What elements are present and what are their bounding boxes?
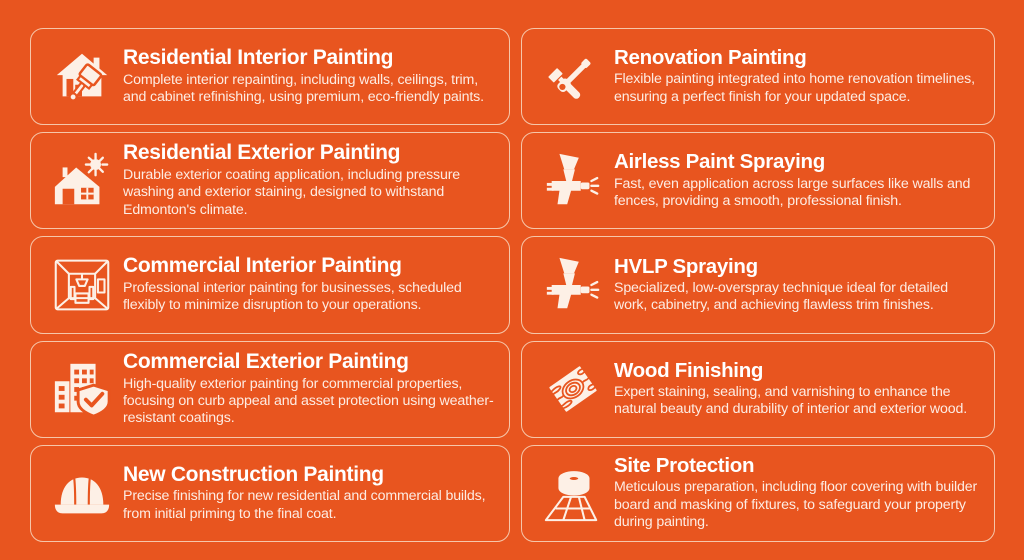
service-description: Durable exterior coating application, in… xyxy=(123,167,497,219)
service-card-airless-paint-spraying[interactable]: Airless Paint Spraying Fast, even applic… xyxy=(521,132,995,229)
service-card-commercial-interior-painting[interactable]: Commercial Interior Painting Professiona… xyxy=(30,236,510,333)
service-card-hvlp-spraying[interactable]: HVLP Spraying Specialized, low-overspray… xyxy=(521,236,995,333)
service-description: Flexible painting integrated into home r… xyxy=(614,71,982,106)
house-sun-icon xyxy=(43,142,121,220)
hard-hat-icon xyxy=(43,454,121,532)
service-title: HVLP Spraying xyxy=(614,256,982,278)
wood-plank-icon xyxy=(534,350,612,428)
service-card-body: Commercial Exterior Painting High-qualit… xyxy=(121,351,499,428)
service-card-body: Airless Paint Spraying Fast, even applic… xyxy=(612,151,984,210)
services-grid: Residential Interior Painting Complete i… xyxy=(0,0,1024,560)
service-title: Airless Paint Spraying xyxy=(614,151,982,173)
spray-gun-icon xyxy=(534,142,612,220)
service-card-renovation-painting[interactable]: Renovation Painting Flexible painting in… xyxy=(521,28,995,125)
service-description: Complete interior repainting, including … xyxy=(123,72,497,107)
service-description: Expert staining, sealing, and varnishing… xyxy=(614,384,982,419)
service-card-site-protection[interactable]: Site Protection Meticulous preparation, … xyxy=(521,445,995,542)
service-description: Fast, even application across large surf… xyxy=(614,176,982,211)
house-paintbrush-icon xyxy=(43,38,121,116)
service-card-residential-interior-painting[interactable]: Residential Interior Painting Complete i… xyxy=(30,28,510,125)
service-card-body: Commercial Interior Painting Professiona… xyxy=(121,255,499,314)
service-card-body: Renovation Painting Flexible painting in… xyxy=(612,47,984,106)
service-card-body: Residential Exterior Painting Durable ex… xyxy=(121,142,499,219)
service-description: High-quality exterior painting for comme… xyxy=(123,376,497,428)
service-card-body: New Construction Painting Precise finish… xyxy=(121,464,499,523)
service-card-body: Site Protection Meticulous preparation, … xyxy=(612,455,984,531)
service-description: Specialized, low-overspray technique ide… xyxy=(614,280,982,315)
service-title: Commercial Interior Painting xyxy=(123,255,497,278)
service-description: Precise finishing for new residential an… xyxy=(123,488,497,523)
service-card-body: HVLP Spraying Specialized, low-overspray… xyxy=(612,256,984,315)
service-title: Site Protection xyxy=(614,455,982,477)
service-description: Meticulous preparation, including floor … xyxy=(614,479,982,531)
spray-gun-icon xyxy=(534,246,612,324)
service-card-new-construction-painting[interactable]: New Construction Painting Precise finish… xyxy=(30,445,510,542)
service-title: Commercial Exterior Painting xyxy=(123,351,497,374)
service-card-body: Wood Finishing Expert staining, sealing,… xyxy=(612,360,984,419)
building-shield-icon xyxy=(43,350,121,428)
service-title: Residential Interior Painting xyxy=(123,47,497,70)
service-card-commercial-exterior-painting[interactable]: Commercial Exterior Painting High-qualit… xyxy=(30,341,510,438)
service-card-body: Residential Interior Painting Complete i… xyxy=(121,47,499,106)
service-title: Residential Exterior Painting xyxy=(123,142,497,165)
roller-screwdriver-cross-icon xyxy=(534,38,612,116)
service-description: Professional interior painting for busin… xyxy=(123,280,497,315)
service-title: New Construction Painting xyxy=(123,464,497,487)
service-card-wood-finishing[interactable]: Wood Finishing Expert staining, sealing,… xyxy=(521,341,995,438)
service-title: Wood Finishing xyxy=(614,360,982,382)
service-title: Renovation Painting xyxy=(614,47,982,69)
room-interior-icon xyxy=(43,246,121,324)
service-card-residential-exterior-painting[interactable]: Residential Exterior Painting Durable ex… xyxy=(30,132,510,229)
tape-floor-icon xyxy=(534,454,612,532)
